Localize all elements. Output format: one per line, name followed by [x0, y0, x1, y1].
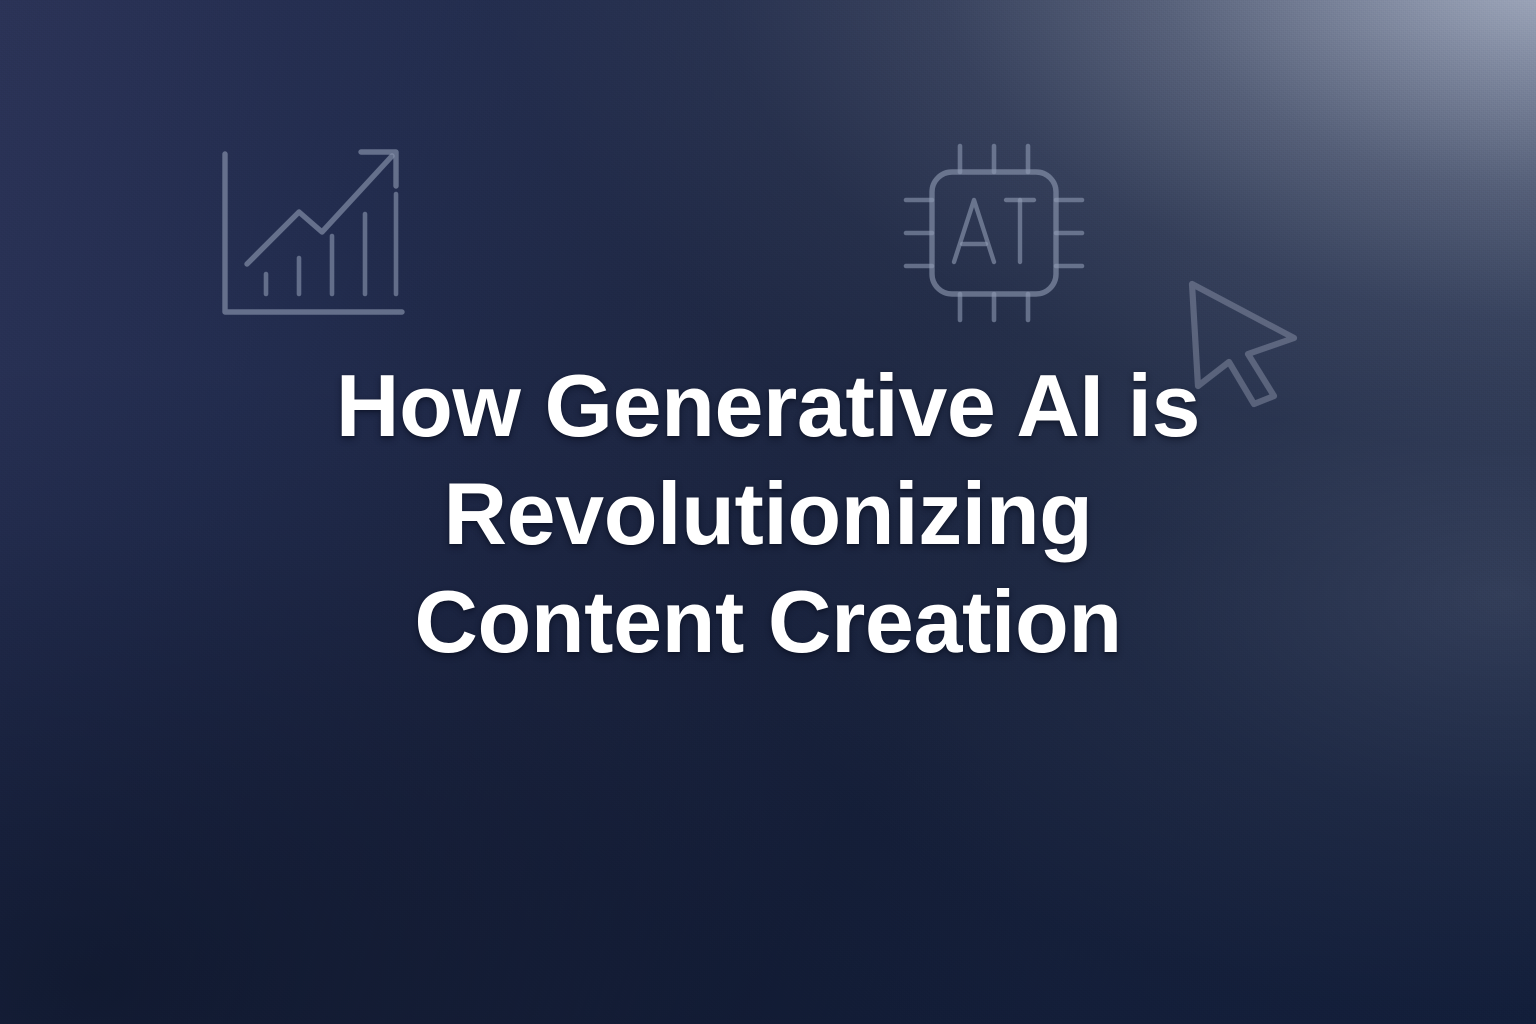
- growth-chart-icon: [216, 140, 412, 326]
- ai-chip-icon: [898, 138, 1090, 328]
- social-card-canvas: How Generative AI is Revolutionizing Con…: [0, 0, 1536, 1024]
- headline-line-3: Content Creation: [0, 568, 1536, 676]
- headline-line-2: Revolutionizing: [0, 460, 1536, 568]
- headline-line-1: How Generative AI is: [0, 352, 1536, 460]
- headline: How Generative AI is Revolutionizing Con…: [0, 352, 1536, 676]
